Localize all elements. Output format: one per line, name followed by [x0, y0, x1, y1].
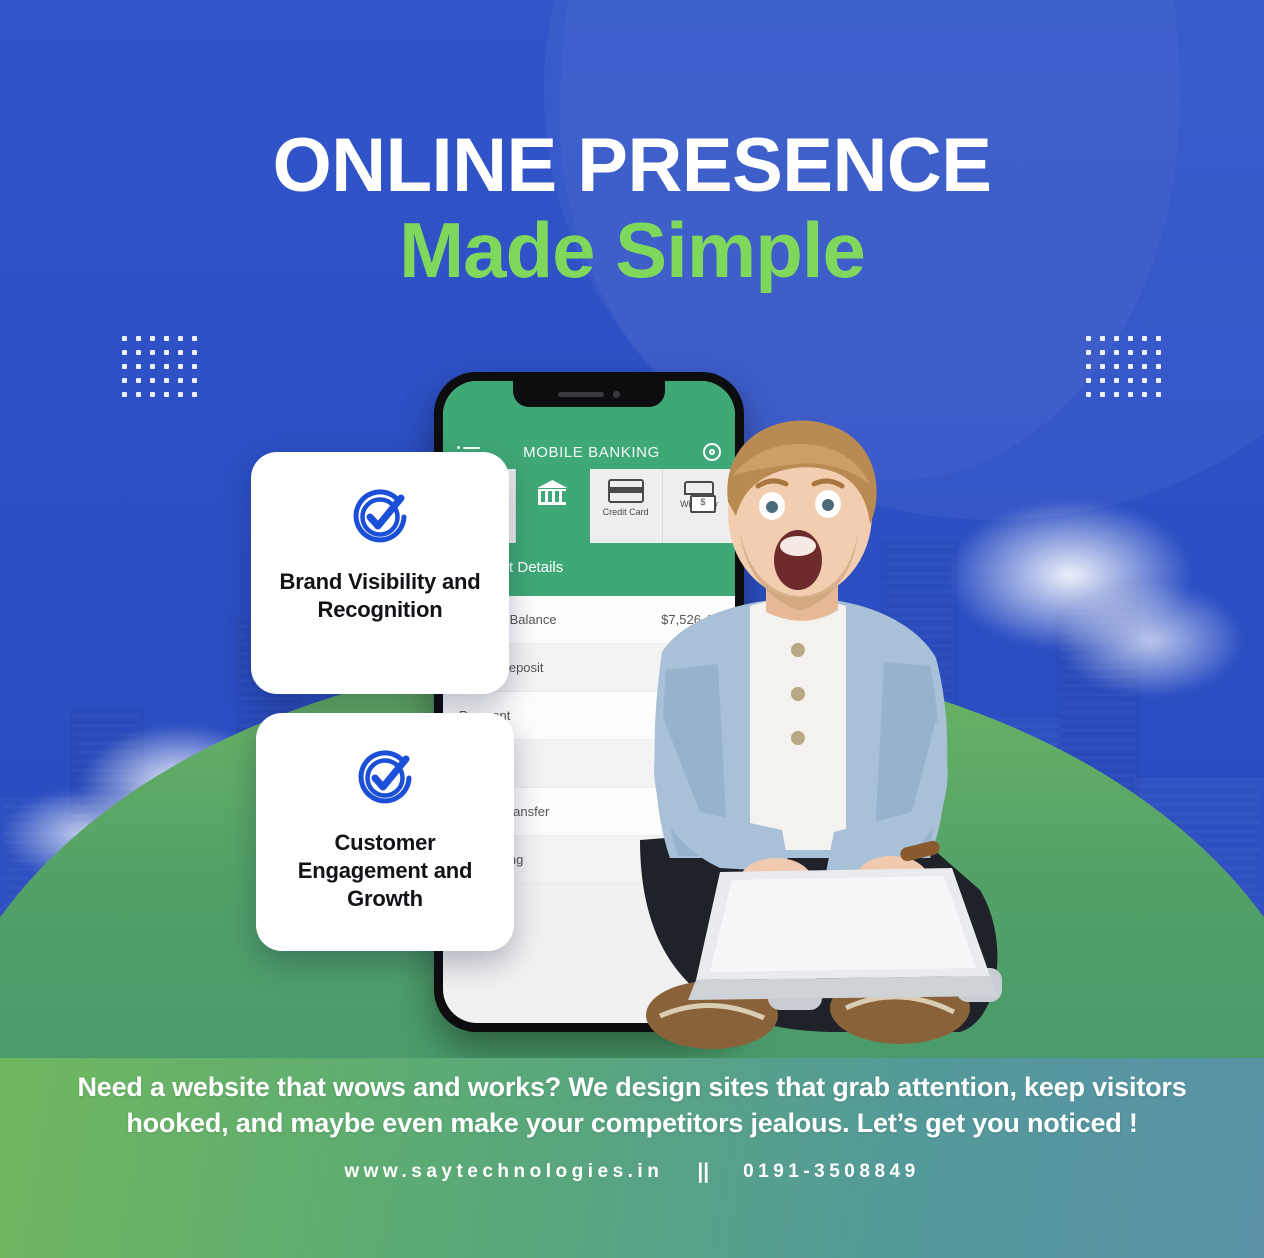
contact-separator: ||: [697, 1160, 709, 1184]
feature-card-title: Brand Visibility and Recognition: [269, 568, 491, 624]
feature-card-customer-engagement[interactable]: Customer Engagement and Growth: [256, 713, 514, 951]
phone-speaker: [558, 392, 604, 397]
poster-canvas: ONLINE PRESENCE Made Simple MOBILE BANKI…: [0, 0, 1264, 1258]
bank-icon: [535, 479, 569, 507]
footer-band: Need a website that wows and works? We d…: [0, 1058, 1264, 1258]
feature-card-brand-visibility[interactable]: Brand Visibility and Recognition: [251, 452, 509, 694]
headline-block: ONLINE PRESENCE Made Simple: [0, 128, 1264, 296]
phone-number[interactable]: 0191-3508849: [743, 1161, 920, 1183]
check-circle-icon: [354, 747, 416, 809]
feature-card-title: Customer Engagement and Growth: [274, 829, 496, 913]
contact-bar: www.saytechnologies.in || 0191-3508849: [0, 1160, 1264, 1184]
website-link[interactable]: www.saytechnologies.in: [344, 1161, 663, 1183]
check-circle-icon: [349, 486, 411, 548]
headline-line-1: ONLINE PRESENCE: [0, 128, 1264, 204]
tagline-text: Need a website that wows and works? We d…: [0, 1070, 1264, 1142]
dot-grid-right: [1086, 336, 1170, 406]
headline-line-2: Made Simple: [0, 204, 1264, 296]
person-photo: [600, 420, 1070, 1060]
phone-notch: [513, 381, 665, 407]
dot-grid-left: [122, 336, 206, 406]
phone-camera: [613, 391, 620, 398]
tab-bank[interactable]: [516, 469, 589, 543]
